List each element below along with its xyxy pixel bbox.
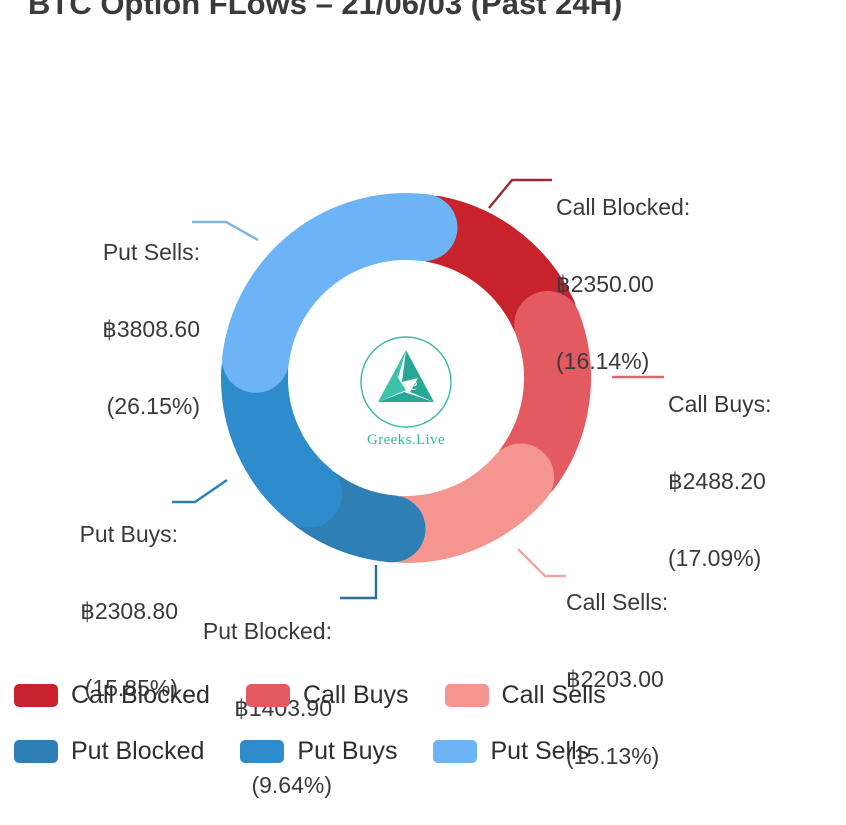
legend-label: Put Blocked [71,737,204,766]
callout-call-buys: Call Buys: ฿2488.20 (17.09%) [668,340,772,598]
donut-slice-put-sells[interactable] [256,227,424,360]
callout-put-sells: Put Sells: ฿3808.60 (26.15%) [0,188,200,446]
legend-label: Put Buys [297,737,397,766]
legend-swatch [246,684,290,707]
legend-label: Call Buys [303,681,409,710]
legend-item-put-sells[interactable]: Put Sells [433,736,589,766]
callout-name: Call Blocked: [556,195,690,221]
legend-item-put-blocked[interactable]: Put Blocked [14,736,204,766]
donut-segments [254,227,557,530]
callout-value: ฿2488.20 [668,469,772,495]
page-title: BTC Option FLows – 21/06/03 (Past 24H) [28,0,622,22]
legend-swatch [445,684,489,707]
callout-name: Call Sells: [566,590,668,616]
legend-swatch [240,740,284,763]
legend: Call BlockedCall BuysCall SellsPut Block… [14,680,834,792]
donut-chart [196,168,616,588]
legend-item-call-sells[interactable]: Call Sells [445,680,606,710]
callout-percent: (26.15%) [0,394,200,420]
legend-swatch [14,684,58,707]
donut-svg [196,168,616,588]
callout-value: ฿2350.00 [556,272,690,298]
callout-percent: (17.09%) [668,546,772,572]
legend-item-call-blocked[interactable]: Call Blocked [14,680,210,710]
callout-value: ฿3808.60 [0,317,200,343]
legend-item-call-buys[interactable]: Call Buys [246,680,409,710]
callout-name: Put Sells: [0,240,200,266]
legend-swatch [433,740,477,763]
callout-name: Call Buys: [668,392,772,418]
callout-value: ฿2308.80 [0,599,178,625]
legend-label: Call Blocked [71,681,210,710]
callout-name: Put Buys: [0,522,178,548]
legend-label: Call Sells [502,681,606,710]
legend-item-put-buys[interactable]: Put Buys [240,736,397,766]
legend-label: Put Sells [490,737,589,766]
legend-swatch [14,740,58,763]
